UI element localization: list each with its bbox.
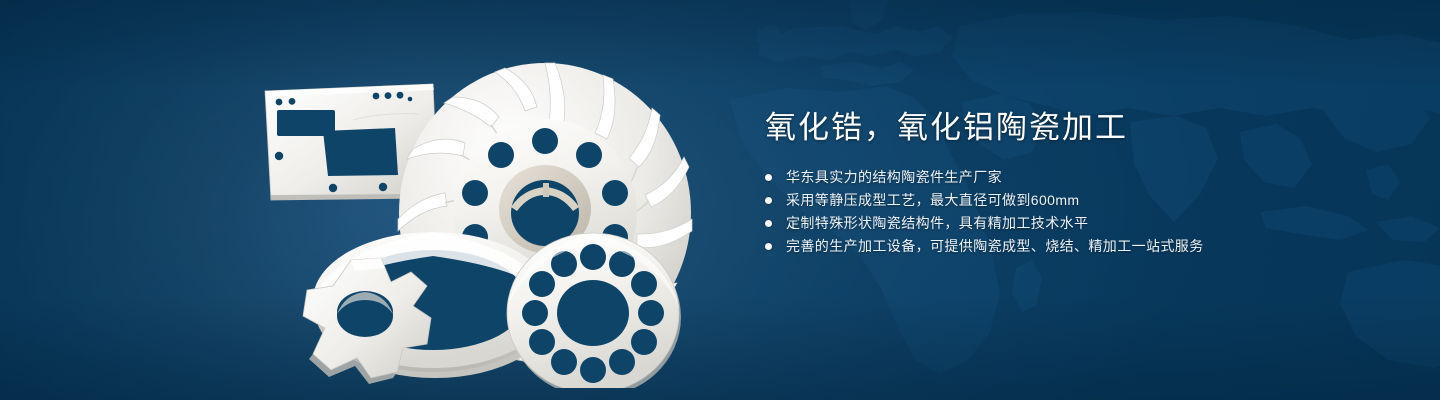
ceramic-products-image bbox=[205, 28, 725, 388]
bullet-dot-icon bbox=[765, 197, 772, 204]
list-item: 完善的生产加工设备，可提供陶瓷成型、烧结、精加工一站式服务 bbox=[765, 235, 1325, 258]
page-title: 氧化锆，氧化铝陶瓷加工 bbox=[765, 108, 1325, 148]
list-item: 华东具实力的结构陶瓷件生产厂家 bbox=[765, 166, 1325, 189]
bullet-dot-icon bbox=[765, 220, 772, 227]
list-item: 定制特殊形状陶瓷结构件，具有精加工技术水平 bbox=[765, 212, 1325, 235]
list-item-label: 完善的生产加工设备，可提供陶瓷成型、烧结、精加工一站式服务 bbox=[786, 235, 1204, 258]
bullet-dot-icon bbox=[765, 243, 772, 250]
hero-banner: 氧化锆，氧化铝陶瓷加工 华东具实力的结构陶瓷件生产厂家 采用等静压成型工艺，最大… bbox=[0, 0, 1440, 400]
list-item-label: 采用等静压成型工艺，最大直径可做到600mm bbox=[786, 189, 1079, 212]
bullet-dot-icon bbox=[765, 174, 772, 181]
list-item-label: 定制特殊形状陶瓷结构件，具有精加工技术水平 bbox=[786, 212, 1088, 235]
banner-copy: 氧化锆，氧化铝陶瓷加工 华东具实力的结构陶瓷件生产厂家 采用等静压成型工艺，最大… bbox=[765, 108, 1325, 258]
list-item: 采用等静压成型工艺，最大直径可做到600mm bbox=[765, 189, 1325, 212]
list-item-label: 华东具实力的结构陶瓷件生产厂家 bbox=[786, 166, 1002, 189]
feature-list: 华东具实力的结构陶瓷件生产厂家 采用等静压成型工艺，最大直径可做到600mm 定… bbox=[765, 166, 1325, 258]
